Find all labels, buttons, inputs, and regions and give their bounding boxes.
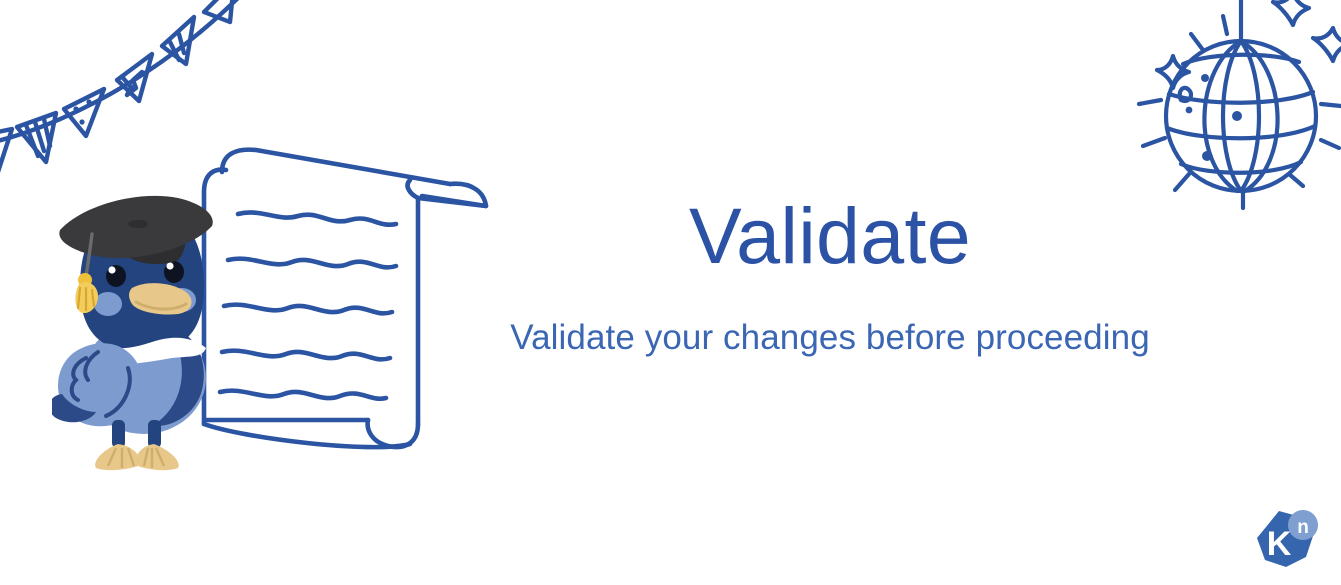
logo-badge-letter: n [1297,517,1309,538]
page-subtitle: Validate your changes before proceeding [460,275,1200,358]
page-title: Validate [460,196,1200,275]
headline-group: Validate Validate your changes before pr… [460,196,1200,358]
disco-ball [1117,0,1341,226]
graduate-bird-mascot [52,182,232,472]
slide-canvas: Validate Validate your changes before pr… [0,0,1341,585]
brand-logo: K n [1251,505,1323,577]
bird-mascot-icon [52,182,232,472]
logo-mark-letter: K [1267,525,1292,563]
brand-logo-icon: K n [1251,505,1323,577]
disco-ball-icon [1117,0,1341,226]
mascot-illustration-group [52,138,462,468]
